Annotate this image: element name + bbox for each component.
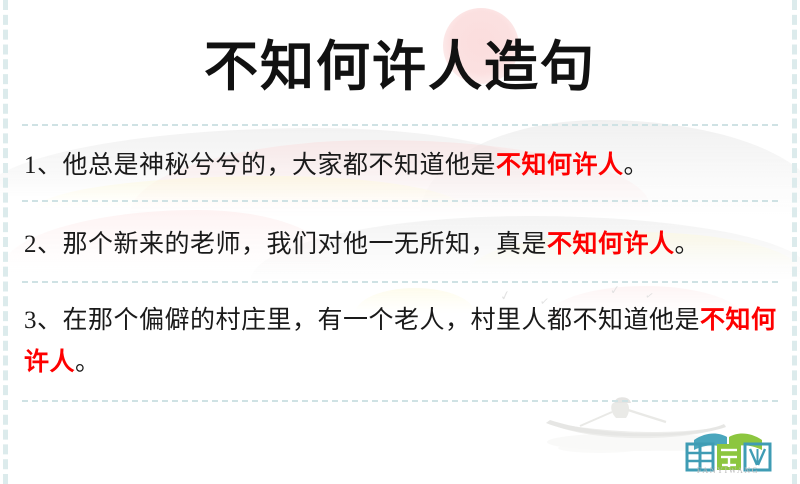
sentence-index-2: 2、 [24, 231, 63, 258]
page-title: 不知何许人造句 [0, 22, 800, 101]
sentence-text-after-2: 。 [675, 231, 701, 258]
divider-line-4 [22, 400, 778, 402]
highlight-phrase-1: 不知何许人 [496, 152, 624, 179]
example-sentence-1: 1、他总是神秘兮兮的，大家都不知道他是不知何许人。 [24, 145, 780, 187]
divider-line-1 [22, 124, 778, 126]
sentence-text-after-3: 。 [75, 349, 101, 376]
sentence-text-before-3: 在那个偏僻的村庄里，有一个老人，村里人都不知道他是 [63, 307, 701, 334]
divider-line-2 [22, 200, 778, 202]
divider-line-3 [22, 281, 778, 283]
sentence-index-3: 3、 [24, 307, 63, 334]
poster-canvas: ✓ ✓ ✓ ✓ 不知何许人造句 1、他总是神秘兮兮的，大家都不知道他是不知何许人… [0, 0, 800, 484]
highlight-phrase-2: 不知何许人 [547, 231, 675, 258]
sentence-text-before-1: 他总是神秘兮兮的，大家都不知道他是 [63, 152, 497, 179]
example-sentence-2: 2、那个新来的老师，我们对他一无所知，真是不知何许人。 [24, 224, 780, 266]
sentence-text-after-1: 。 [624, 152, 650, 179]
sentence-text-before-2: 那个新来的老师，我们对他一无所知，真是 [63, 231, 548, 258]
sentence-index-1: 1、 [24, 152, 63, 179]
bird-icon: ✓ [610, 284, 621, 297]
example-sentence-3: 3、在那个偏僻的村庄里，有一个老人，村里人都不知道他是不知何许人。 [24, 300, 780, 384]
logo-caption: FANYIWANG [676, 466, 780, 475]
